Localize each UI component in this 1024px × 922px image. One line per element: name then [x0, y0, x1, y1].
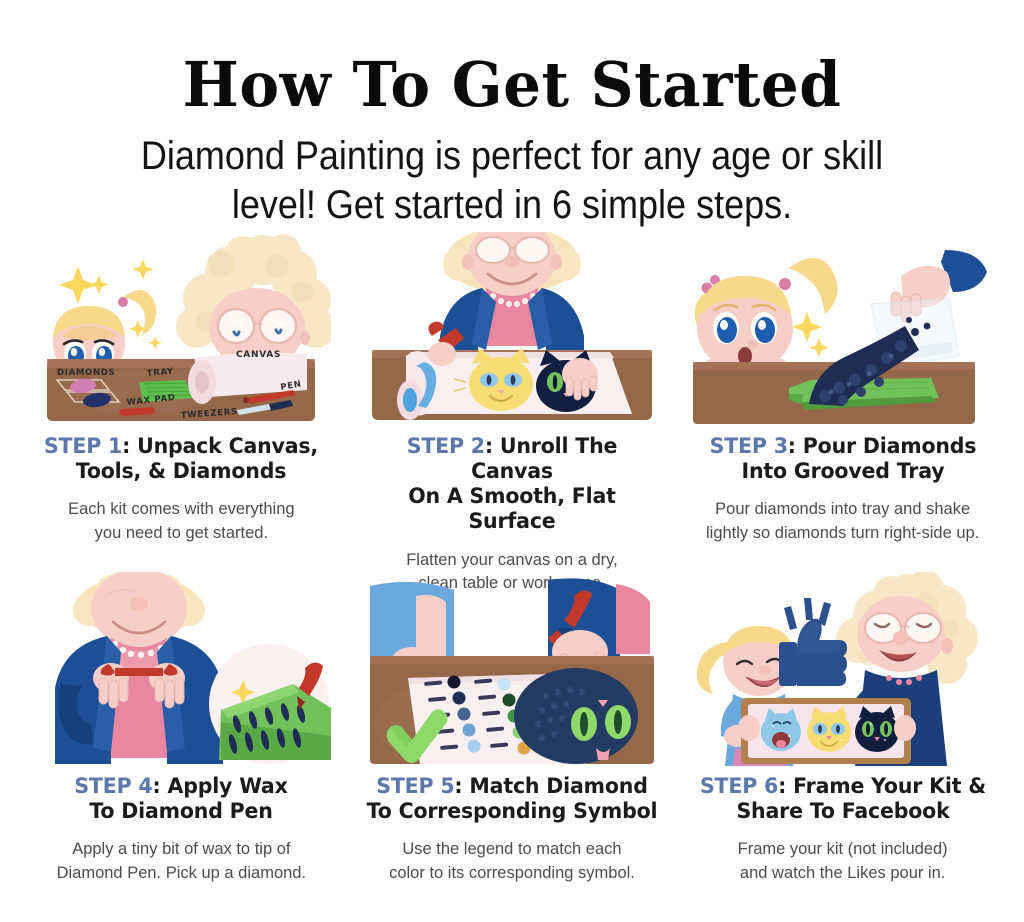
- step-4-body: Apply a tiny bit of wax to tip of Diamon…: [25, 838, 337, 885]
- legend-dot-dark-green: [502, 694, 515, 707]
- step-2-heading: STEP 2: Unroll The Canvas On A Smooth, F…: [364, 434, 660, 535]
- step-card-6: STEP 6: Frame Your Kit & Share To Facebo…: [677, 572, 1008, 912]
- subtitle-line-2: level! Get started in 6 simple steps.: [51, 181, 973, 230]
- header: How To Get Started Diamond Painting is p…: [0, 0, 1024, 230]
- step-4-body-line-1: Apply a tiny bit of wax to tip of: [25, 838, 337, 861]
- step-4-title-line-2: To Diamond Pen: [33, 799, 329, 824]
- step-4-illustration: [31, 572, 331, 768]
- step-4-number: STEP 4: [75, 774, 153, 799]
- step-6-illustration: [693, 572, 993, 768]
- step-2-body-line-1: Flatten your canvas on a dry,: [351, 549, 673, 572]
- step-3-illustration: [693, 232, 993, 428]
- step-2-number: STEP 2: [407, 434, 485, 459]
- step-6-number: STEP 6: [700, 774, 778, 799]
- step-6-heading: STEP 6: Frame Your Kit & Share To Facebo…: [695, 774, 991, 824]
- legend-dot-pale-blue: [497, 678, 510, 691]
- step-3-body: Pour diamonds into tray and shake lightl…: [682, 498, 1004, 545]
- step-2-title-line-1: Unroll The Canvas: [471, 434, 617, 484]
- step-2-illustration: [362, 232, 662, 428]
- step-1-number: STEP 1: [44, 434, 122, 459]
- step-1-title-line-2: Tools, & Diamonds: [33, 459, 329, 484]
- step-5-body: Use the legend to match each color to it…: [356, 838, 668, 885]
- legend-dot-blue: [462, 724, 475, 737]
- step-card-5: STEP 5: Match Diamond To Corresponding S…: [347, 572, 678, 912]
- step-1-body-line-1: Each kit comes with everything: [25, 498, 337, 521]
- step-5-body-line-1: Use the legend to match each: [356, 838, 668, 861]
- step-1-illustration: DIAMONDS TRAY CANVAS WAX PAD TWEEZERS PE…: [31, 232, 331, 428]
- woman-applying-wax: [55, 572, 223, 764]
- step-5-heading: STEP 5: Match Diamond To Corresponding S…: [364, 774, 660, 824]
- step-5-title-line-1: Match Diamond: [469, 774, 647, 799]
- navy-cat-in-progress: [514, 668, 638, 764]
- label-canvas: CANVAS: [236, 350, 281, 360]
- step-3-title-line-2: Into Grooved Tray: [695, 459, 991, 484]
- step-3-title-line-1: Pour Diamonds: [802, 434, 976, 459]
- step-2-title-line-2: On A Smooth, Flat Surface: [364, 484, 660, 534]
- page-title: How To Get Started: [20, 54, 1003, 116]
- zoom-inset-circle: [209, 644, 331, 764]
- label-diamonds: DIAMONDS: [57, 368, 115, 378]
- legend-dot-black: [447, 676, 460, 689]
- step-3-body-line-2: lightly so diamonds turn right-side up.: [682, 522, 1004, 545]
- step-3-body-line-1: Pour diamonds into tray and shake: [682, 498, 1004, 521]
- curly-hair-character: [176, 234, 331, 368]
- step-6-body-line-2: and watch the Likes pour in.: [693, 862, 993, 885]
- step-5-title-line-2: To Corresponding Symbol: [364, 799, 660, 824]
- step-6-title-line-1: Frame Your Kit &: [793, 774, 986, 799]
- step-1-title-line-1: Unpack Canvas,: [137, 434, 318, 459]
- step-1-body-line-2: you need to get started.: [25, 522, 337, 545]
- step-card-4: STEP 4: Apply Wax To Diamond Pen Apply a…: [16, 572, 347, 912]
- step-card-2: STEP 2: Unroll The Canvas On A Smooth, F…: [347, 232, 678, 572]
- steps-grid: DIAMONDS TRAY CANVAS WAX PAD TWEEZERS PE…: [16, 232, 1008, 912]
- sparkle-icon: [792, 312, 829, 357]
- legend-dot-slate: [457, 708, 470, 721]
- step-5-number: STEP 5: [376, 774, 454, 799]
- step-3-number: STEP 3: [709, 434, 787, 459]
- legend-dot-light-blue: [467, 740, 480, 753]
- subtitle-line-1: Diamond Painting is perfect for any age …: [51, 132, 973, 181]
- step-1-body: Each kit comes with everything you need …: [25, 498, 337, 545]
- step-6-body: Frame your kit (not included) and watch …: [693, 838, 993, 885]
- step-3-heading: STEP 3: Pour Diamonds Into Grooved Tray: [695, 434, 991, 484]
- step-4-body-line-2: Diamond Pen. Pick up a diamond.: [25, 862, 337, 885]
- legend-dot-navy: [452, 692, 465, 705]
- step-6-title-line-2: Share To Facebook: [695, 799, 991, 824]
- step-card-3: STEP 3: Pour Diamonds Into Grooved Tray …: [677, 232, 1008, 572]
- step-6-body-line-1: Frame your kit (not included): [693, 838, 993, 861]
- page-subtitle: Diamond Painting is perfect for any age …: [51, 132, 973, 230]
- step-5-illustration: [362, 572, 662, 768]
- surprised-girl-character: [694, 258, 837, 378]
- step-5-body-line-2: color to its corresponding symbol.: [356, 862, 668, 885]
- infographic-page: How To Get Started Diamond Painting is p…: [0, 0, 1024, 922]
- facebook-like-icon: [779, 598, 847, 686]
- step-4-title-line-1: Apply Wax: [168, 774, 288, 799]
- framed-diamond-art: [738, 698, 916, 764]
- step-4-heading: STEP 4: Apply Wax To Diamond Pen: [33, 774, 329, 824]
- step-1-heading: STEP 1: Unpack Canvas, Tools, & Diamonds: [33, 434, 329, 484]
- step-card-1: DIAMONDS TRAY CANVAS WAX PAD TWEEZERS PE…: [16, 232, 347, 572]
